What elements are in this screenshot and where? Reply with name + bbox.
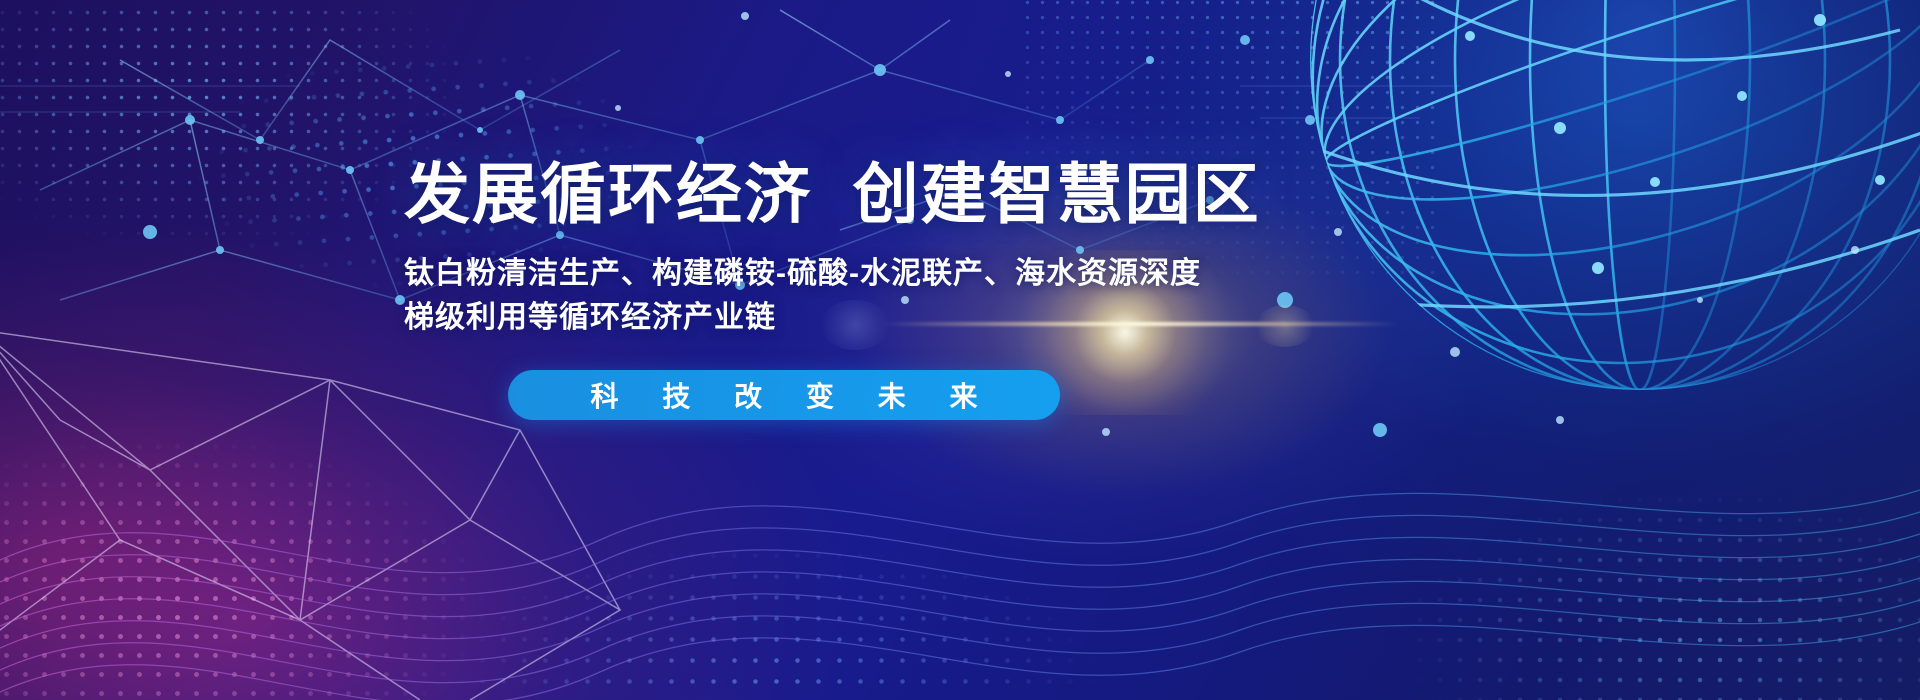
wave-mesh-icon <box>0 490 1920 700</box>
cta-button[interactable]: 科 技 改 变 未 来 <box>508 370 1060 420</box>
halftone-dots-bottom-center <box>430 440 1190 700</box>
halftone-dots-bottom-left <box>0 380 700 700</box>
banner-content: 发展循环经济 创建智慧园区 钛白粉清洁生产、构建磷铵-硫酸-水泥联产、海水资源深… <box>404 160 1224 420</box>
subtitle-line-2: 梯级利用等循环经济产业链 <box>404 296 1224 340</box>
hero-banner: 发展循环经济 创建智慧园区 钛白粉清洁生产、构建磷铵-硫酸-水泥联产、海水资源深… <box>0 0 1920 700</box>
scanline-accents <box>0 86 1460 118</box>
halftone-dots-bottom-right <box>1250 430 1920 700</box>
banner-headline: 发展循环经济 创建智慧园区 <box>404 160 1224 230</box>
lens-flare-ghost-right <box>1255 305 1315 347</box>
globe-wireframe-icon <box>1233 0 1920 447</box>
wave-mesh-vertical <box>120 470 1800 700</box>
subtitle-line-1: 钛白粉清洁生产、构建磷铵-硫酸-水泥联产、海水资源深度 <box>404 252 1224 296</box>
banner-subtitle: 钛白粉清洁生产、构建磷铵-硫酸-水泥联产、海水资源深度 梯级利用等循环经济产业链 <box>404 252 1224 340</box>
